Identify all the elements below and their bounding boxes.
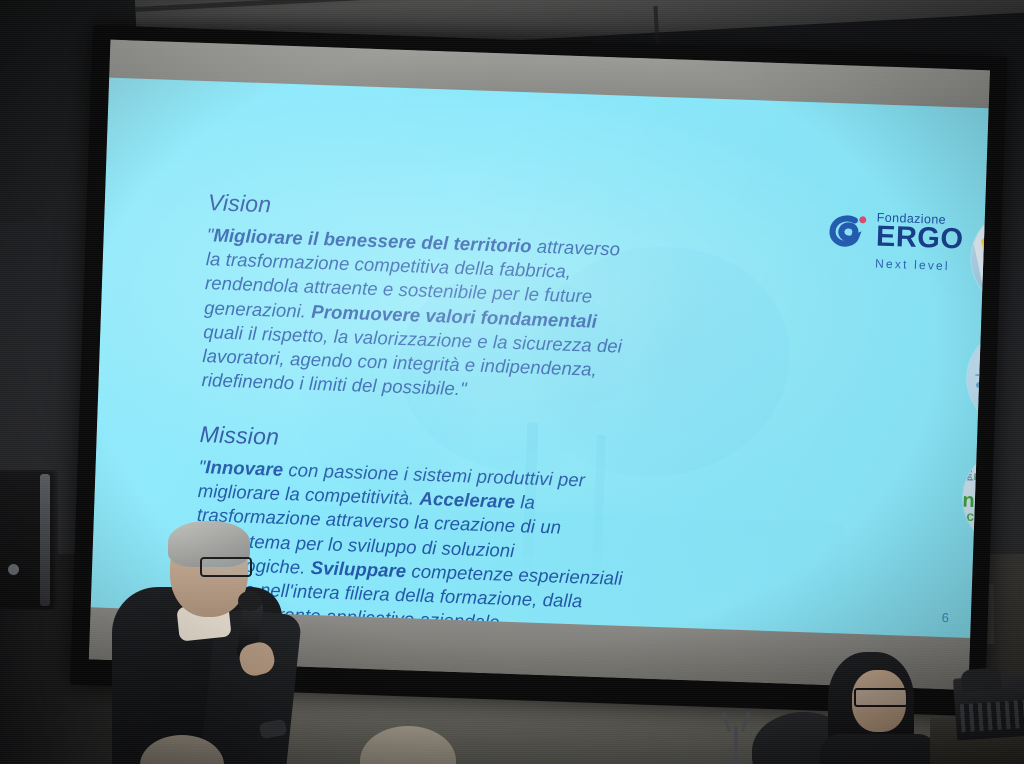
word-cloud-art: innovationcreativityideatechnologyproduc… (961, 447, 988, 550)
word-cloud-term: product (974, 471, 989, 481)
card-ricerca-e-sviluppo[interactable]: Ricerca e Sviluppo (966, 333, 969, 421)
audio-technician (822, 652, 942, 764)
technician-torso (820, 734, 938, 764)
word-cloud-term: innovation (961, 490, 988, 514)
photo-scene: Vision "Migliorare il benessere del terr… (0, 0, 1024, 764)
microphone-head (238, 591, 262, 611)
presenter-with-microphone (112, 525, 297, 764)
word-cloud-icon: innovationcreativityideatechnologyproduc… (961, 447, 988, 550)
circuit-board-icon (966, 327, 989, 430)
technician-glasses (854, 688, 908, 707)
card-laboratori-esperienziali[interactable]: Laboratori Esperienziali (970, 213, 973, 301)
mixing-console (953, 673, 1024, 740)
presenter-glasses (200, 557, 252, 577)
console-knobs (960, 700, 1024, 733)
speaker-grill (40, 474, 50, 606)
lab-hands-photo-icon (970, 207, 989, 310)
stylized-e-icon (827, 211, 870, 254)
logo-line-next-level: Next level (875, 256, 950, 273)
speaker-badge (8, 564, 19, 575)
word-cloud-term: process (966, 450, 975, 481)
logo-line-ergo: ERGO (876, 222, 964, 254)
pa-speaker (0, 470, 58, 610)
console-mic-holder (960, 667, 1001, 692)
microphone-stand (722, 712, 750, 764)
vision-heading: Vision (207, 189, 271, 218)
fondazione-ergo-logo: Fondazione ERGO Next level (827, 201, 958, 279)
word-cloud-term: business (976, 523, 989, 533)
card-trasferimento-tecnologico[interactable]: Trasferimento Tecnologico innovationcrea… (962, 453, 965, 541)
mission-heading: Mission (199, 421, 279, 451)
word-cloud-term: creativity (966, 509, 988, 525)
slide-page-number: 6 (941, 610, 949, 625)
vision-body: "Migliorare il benessere del territorio … (201, 223, 637, 408)
